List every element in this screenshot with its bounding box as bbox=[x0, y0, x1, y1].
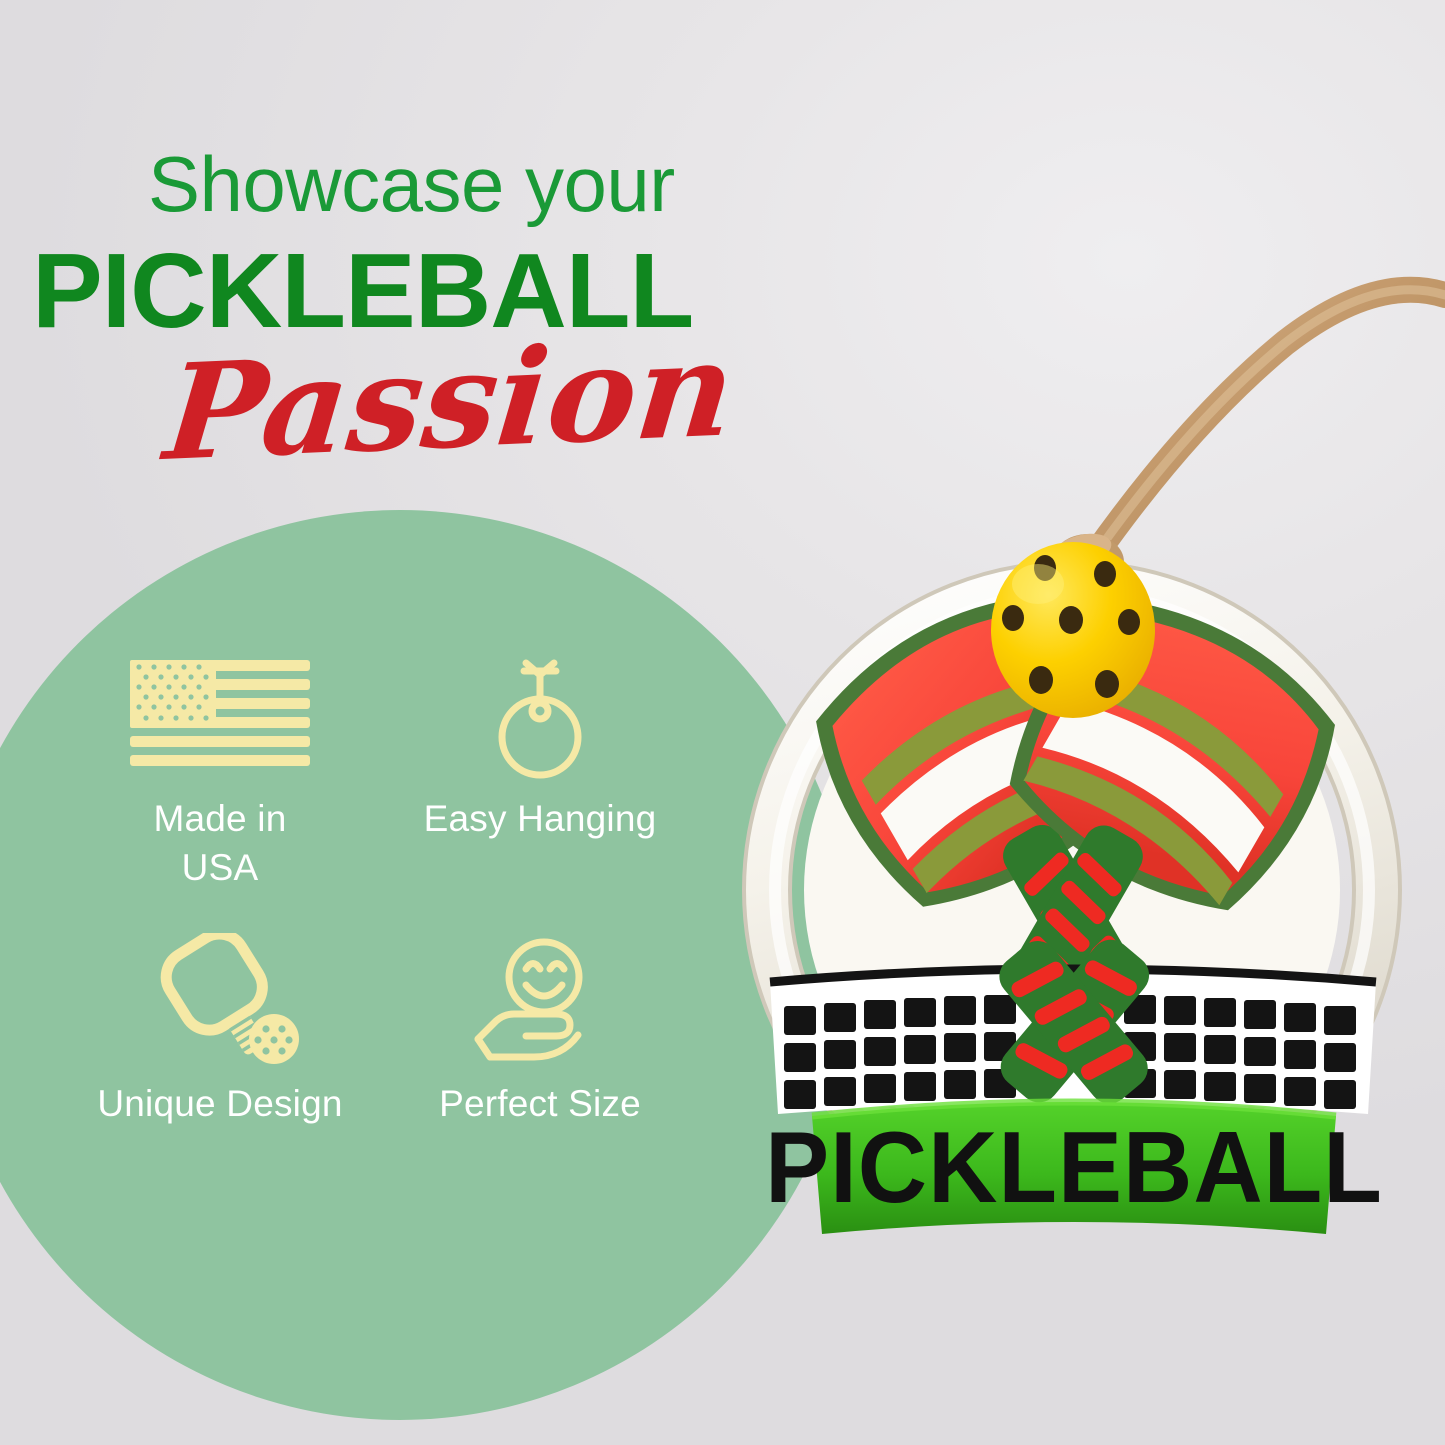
feature-label: Made inUSA bbox=[70, 795, 370, 893]
headline-line-1: Showcase your bbox=[148, 145, 675, 223]
smiley-in-hand-icon bbox=[390, 935, 690, 1070]
usa-flag-icon bbox=[70, 650, 370, 785]
feature-label: Easy Hanging bbox=[390, 795, 690, 844]
feature-label: Unique Design bbox=[70, 1080, 370, 1129]
feature-label: Perfect Size bbox=[390, 1080, 690, 1129]
hanging-rope bbox=[1049, 290, 1445, 594]
pickleball-paddle-icon bbox=[70, 935, 370, 1070]
feature-item-perfect-size: Perfect Size bbox=[390, 935, 690, 1129]
feature-grid: Made inUSA Easy Hanging bbox=[60, 650, 780, 1190]
ornament-hook-icon bbox=[390, 650, 690, 785]
marketing-image-canvas: Showcase your PICKLEBALL Passion bbox=[0, 0, 1445, 1445]
feature-item-easy-hanging: Easy Hanging bbox=[390, 650, 690, 844]
pickleball-ball bbox=[991, 542, 1155, 718]
product-image: PICKLEBALL bbox=[700, 240, 1445, 1250]
pickleball-banner: PICKLEBALL bbox=[765, 1102, 1383, 1234]
headline-script-word: Passion bbox=[160, 324, 740, 480]
banner-text: PICKLEBALL bbox=[765, 1111, 1383, 1224]
feature-item-unique-design: Unique Design bbox=[70, 935, 370, 1129]
pickleball-ornament-illustration: PICKLEBALL bbox=[700, 240, 1445, 1250]
feature-item-made-in-usa: Made inUSA bbox=[70, 650, 370, 893]
